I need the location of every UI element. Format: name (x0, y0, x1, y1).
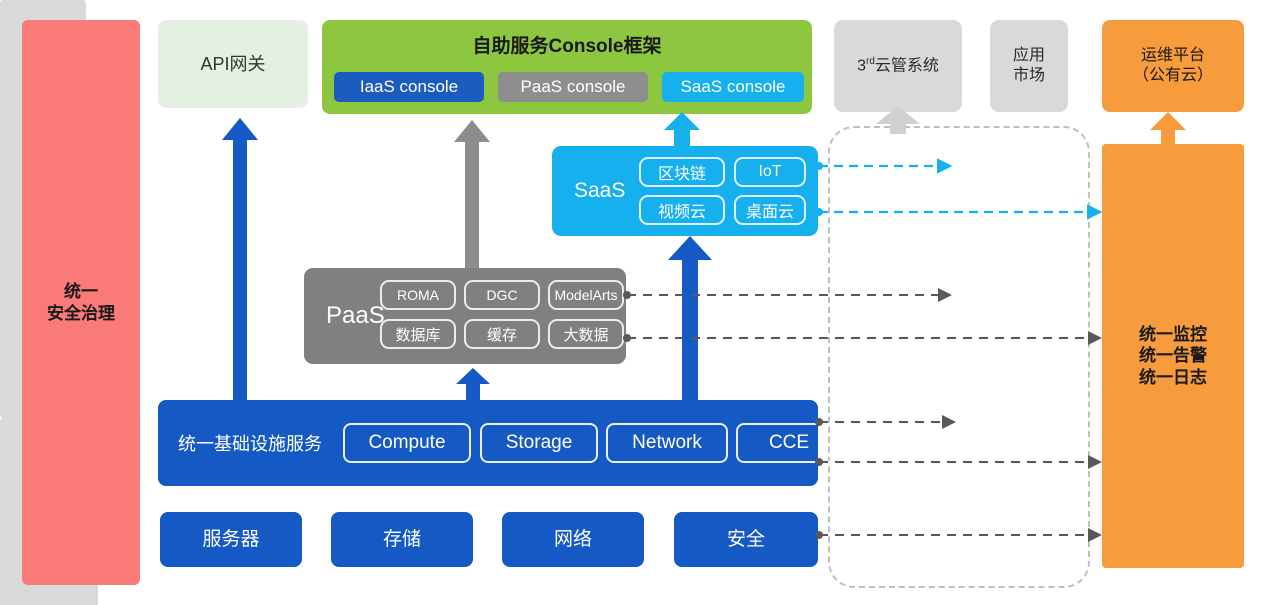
hardware-item-network[interactable]: 网络 (502, 512, 644, 567)
infra-item-compute[interactable]: Compute (343, 423, 471, 463)
infra-item-compute-label: Compute (368, 432, 445, 454)
infra-item-network[interactable]: Network (606, 423, 728, 463)
hardware-item-network-label: 网络 (554, 528, 592, 552)
unified-security-governance-label: 统一安全治理 (47, 281, 115, 324)
saas-item-iot[interactable]: IoT (734, 157, 806, 187)
saas-item-video-cloud-label: 视频云 (658, 198, 706, 222)
saas-item-desktop-cloud-label: 桌面云 (746, 198, 794, 222)
hardware-item-storage-label: 存储 (383, 528, 421, 552)
arrow-infra-to-paas (456, 368, 490, 400)
hardware-item-storage[interactable]: 存储 (331, 512, 473, 567)
paas-block-label: PaaS (326, 302, 385, 330)
saas-item-video-cloud[interactable]: 视频云 (639, 195, 725, 225)
monitoring-panel-label: 统一监控统一告警统一日志 (1139, 324, 1207, 388)
paas-item-modelarts-label: ModelArts (554, 287, 617, 303)
paas-item-dgc[interactable]: DGC (464, 280, 540, 310)
paas-block[interactable]: PaaS ROMA DGC ModelArts 数据库 缓存 大数据 (304, 268, 626, 364)
saas-item-blockchain[interactable]: 区块链 (639, 157, 725, 187)
self-service-console-title: 自助服务Console框架 (322, 31, 812, 58)
iaas-console-label: IaaS console (360, 77, 458, 97)
ops-platform-label: 运维平台（公有云） (1133, 46, 1213, 86)
app-market-box[interactable]: 应用市场 (990, 20, 1068, 112)
hardware-item-server-label: 服务器 (202, 528, 259, 552)
infra-item-cce[interactable]: CCE (736, 423, 842, 463)
third-party-cloud-mgmt-box[interactable]: 3rd云管系统 (834, 20, 962, 112)
infra-item-network-label: Network (632, 432, 702, 454)
third-party-cloud-mgmt-label: 3rd云管系统 (857, 56, 939, 76)
arrow-monitoring-to-ops-platform (1150, 112, 1186, 144)
paas-item-cache-label: 缓存 (487, 324, 517, 345)
paas-item-database[interactable]: 数据库 (380, 319, 456, 349)
api-gateway-label: API网关 (200, 53, 265, 76)
infra-item-storage[interactable]: Storage (480, 423, 598, 463)
saas-item-iot-label: IoT (758, 163, 781, 181)
paas-item-dgc-label: DGC (486, 287, 517, 303)
saas-item-blockchain-label: 区块链 (658, 160, 706, 184)
saas-console-label: SaaS console (681, 77, 786, 97)
paas-item-database-label: 数据库 (395, 324, 440, 345)
hardware-item-security[interactable]: 安全 (674, 512, 818, 567)
paas-item-bigdata[interactable]: 大数据 (548, 319, 624, 349)
monitoring-panel[interactable]: 统一监控统一告警统一日志 (1102, 144, 1244, 568)
saas-block-label: SaaS (574, 179, 625, 203)
hardware-item-security-label: 安全 (727, 528, 765, 552)
saas-console-chip[interactable]: SaaS console (662, 72, 804, 102)
unified-security-governance-panel[interactable]: 统一安全治理 (22, 20, 140, 585)
iaas-console-chip[interactable]: IaaS console (334, 72, 484, 102)
paas-item-cache[interactable]: 缓存 (464, 319, 540, 349)
infrastructure-block[interactable]: 统一基础设施服务 Compute Storage Network CCE (158, 400, 818, 486)
app-market-label: 应用市场 (1013, 46, 1045, 86)
ops-platform-box[interactable]: 运维平台（公有云） (1102, 20, 1244, 112)
infra-item-storage-label: Storage (506, 432, 573, 454)
arrow-saas-to-console (664, 112, 700, 146)
paas-item-roma-label: ROMA (397, 287, 439, 303)
self-service-console-frame[interactable]: 自助服务Console框架 IaaS console PaaS console … (322, 20, 812, 114)
infrastructure-label: 统一基础设施服务 (178, 430, 322, 456)
hardware-item-server[interactable]: 服务器 (160, 512, 302, 567)
infra-item-cce-label: CCE (769, 432, 809, 454)
saas-item-desktop-cloud[interactable]: 桌面云 (734, 195, 806, 225)
api-gateway-box[interactable]: API网关 (158, 20, 308, 108)
architecture-diagram: 统一租户认证鉴权 统一计量话单 统一安全治理 API网关 自助服务Console… (0, 0, 1265, 605)
paas-item-modelarts[interactable]: ModelArts (548, 280, 624, 310)
paas-console-label: PaaS console (521, 77, 626, 97)
paas-item-roma[interactable]: ROMA (380, 280, 456, 310)
paas-item-bigdata-label: 大数据 (563, 324, 608, 345)
paas-console-chip[interactable]: PaaS console (498, 72, 648, 102)
arrow-infra-to-saas (668, 236, 712, 400)
saas-block[interactable]: SaaS 区块链 IoT 视频云 桌面云 (552, 146, 818, 236)
ordinal-superscript: rd (866, 56, 875, 67)
